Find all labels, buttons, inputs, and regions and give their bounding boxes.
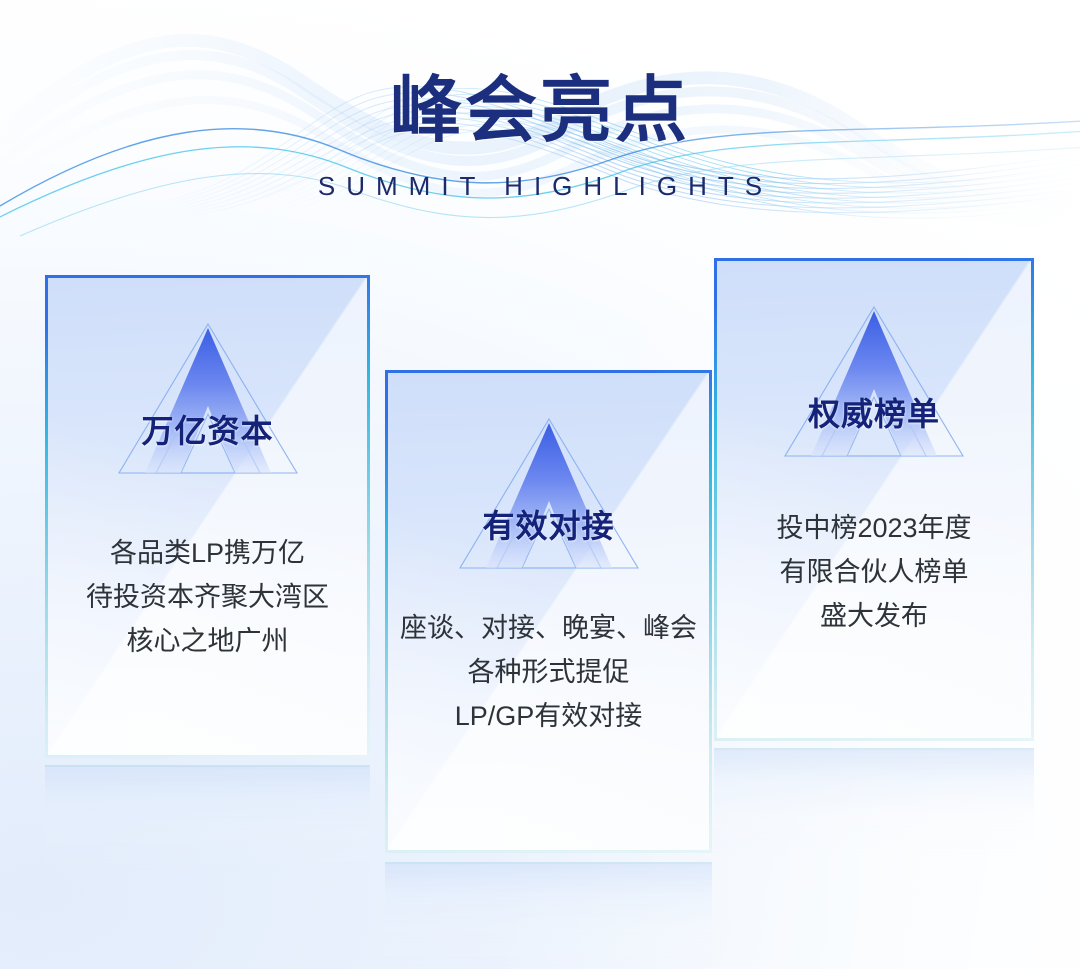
card-body-line: 座谈、对接、晚宴、峰会 — [388, 606, 709, 650]
card-body-line: LP/GP有效对接 — [388, 694, 709, 738]
card-body-line: 盛大发布 — [717, 594, 1031, 638]
card-badge-label: 万亿资本 — [48, 415, 367, 447]
card-body-line: 投中榜2023年度 — [717, 506, 1031, 550]
highlight-card-authoritative-ranking[interactable]: 权威榜单 投中榜2023年度 有限合伙人榜单 盛大发布 — [714, 258, 1034, 741]
mountain-chevron-logo-icon — [456, 405, 642, 575]
header: 峰会亮点 SUMMIT HIGHLIGHTS — [0, 0, 1080, 199]
page-title: 峰会亮点 — [0, 0, 1080, 146]
mountain-chevron-logo-icon — [115, 310, 301, 480]
card-body-line: 核心之地广州 — [48, 619, 367, 663]
card-body-line: 有限合伙人榜单 — [717, 550, 1031, 594]
highlight-card-trillion-capital[interactable]: 万亿资本 各品类LP携万亿 待投资本齐聚大湾区 核心之地广州 — [45, 275, 370, 758]
card-body-text: 投中榜2023年度 有限合伙人榜单 盛大发布 — [717, 506, 1031, 638]
mountain-chevron-logo-icon — [781, 293, 967, 463]
card-badge-label: 权威榜单 — [717, 398, 1031, 430]
card-body-line: 各品类LP携万亿 — [48, 531, 367, 575]
poster-stage: 峰会亮点 SUMMIT HIGHLIGHTS — [0, 0, 1080, 969]
card-body-line: 各种形式提促 — [388, 650, 709, 694]
page-subtitle: SUMMIT HIGHLIGHTS — [0, 146, 1080, 199]
card-body-text: 座谈、对接、晚宴、峰会 各种形式提促 LP/GP有效对接 — [388, 606, 709, 738]
card-body-text: 各品类LP携万亿 待投资本齐聚大湾区 核心之地广州 — [48, 531, 367, 663]
card-body-line: 待投资本齐聚大湾区 — [48, 575, 367, 619]
card-badge-label: 有效对接 — [388, 510, 709, 542]
highlight-card-effective-matching[interactable]: 有效对接 座谈、对接、晚宴、峰会 各种形式提促 LP/GP有效对接 — [385, 370, 712, 853]
